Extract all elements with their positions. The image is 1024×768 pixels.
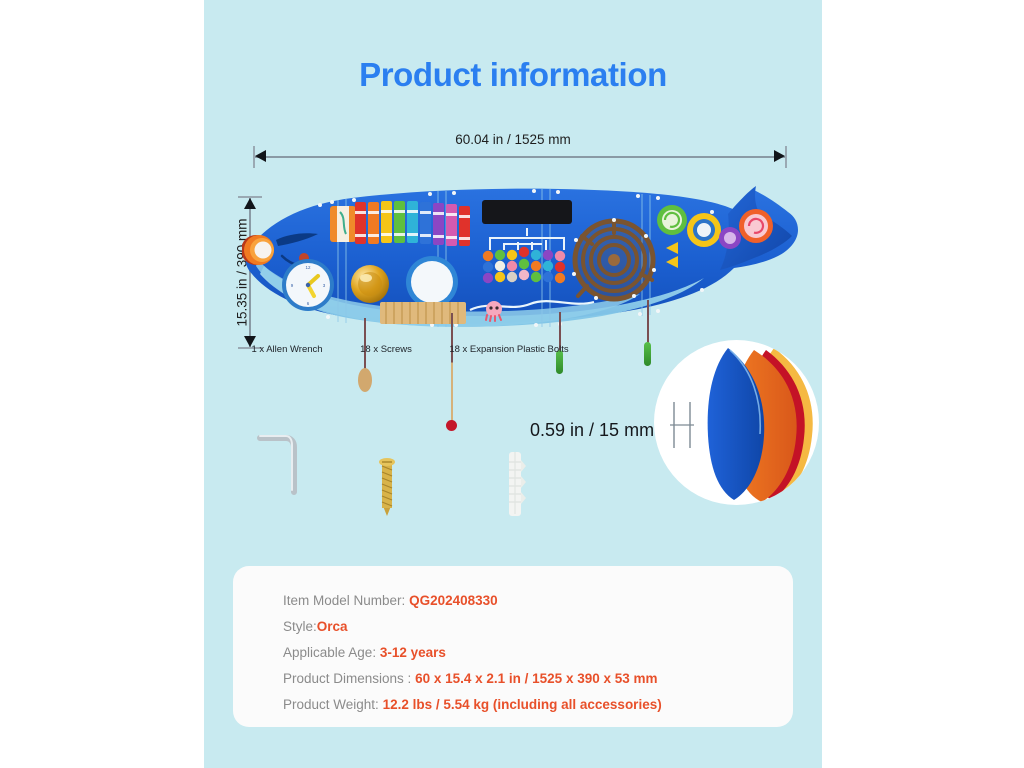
slider-block [330, 206, 356, 242]
gear-orange [739, 209, 773, 243]
brass-bell [351, 265, 389, 303]
spec-label-weight: Product Weight: [283, 697, 379, 712]
spec-value-weight: 12.2 lbs / 5.54 kg (including all access… [383, 697, 662, 712]
allen-wrench-icon [256, 432, 300, 496]
screw-icon [376, 450, 398, 522]
xylophone [354, 200, 472, 246]
nose-spinner [242, 235, 274, 265]
accessory-label-screws: 18 x Screws [360, 344, 412, 355]
spec-card: Item Model Number: QG202408330 Style:Orc… [233, 566, 793, 727]
whale-board-svg: 123 69 [242, 178, 802, 368]
spec-value-dimensions: 60 x 15.4 x 2.1 in / 1525 x 390 x 53 mm [415, 671, 657, 686]
spec-row-style: Style:Orca [283, 619, 348, 634]
spec-value-age: 3-12 years [380, 645, 446, 660]
chalkboard-panel [482, 200, 572, 224]
spec-row-model: Item Model Number: QG202408330 [283, 593, 498, 608]
gear-yellow [687, 213, 721, 247]
spec-label-style: Style: [283, 619, 317, 634]
page-title: Product information [204, 56, 822, 94]
spec-row-weight: Product Weight: 12.2 lbs / 5.54 kg (incl… [283, 697, 662, 712]
wood-mallet-icon [354, 366, 376, 396]
width-tick-right [785, 146, 787, 168]
arrow-right-icon [774, 150, 785, 162]
green-stick-string-2 [647, 300, 649, 346]
spec-row-age: Applicable Age: 3-12 years [283, 645, 446, 660]
spec-value-model: QG202408330 [409, 593, 498, 608]
wall-anchor-icon [502, 448, 528, 522]
accessory-label-expansion-bolts: 18 x Expansion Plastic Bolts [449, 344, 568, 355]
spec-label-model: Item Model Number: [283, 593, 405, 608]
accessory-label-allen-wrench: 1 x Allen Wrench [251, 344, 322, 355]
spec-label-dimensions: Product Dimensions : [283, 671, 411, 686]
width-dimension-label: 60.04 in / 1525 mm [204, 132, 822, 147]
product-information-page: Product information 60.04 in / 1525 mm 1… [0, 0, 1024, 768]
width-dimension-line [253, 156, 785, 158]
thickness-label: 0.59 in / 15 mm [530, 420, 654, 441]
spec-row-dimensions: Product Dimensions : 60 x 15.4 x 2.1 in … [283, 671, 658, 686]
ball-string [451, 313, 453, 423]
svg-text:12: 12 [305, 265, 311, 270]
wood-strip [380, 302, 466, 324]
thickness-gauge [670, 400, 700, 450]
arrow-left-icon [255, 150, 266, 162]
mirror-circle [406, 256, 458, 308]
gear-green [657, 205, 687, 235]
analog-clock: 123 69 [282, 259, 334, 311]
infographic-canvas: Product information 60.04 in / 1525 mm 1… [204, 0, 822, 768]
spec-value-style: Orca [317, 619, 348, 634]
spec-label-age: Applicable Age: [283, 645, 376, 660]
red-ball [446, 420, 457, 431]
gear-purple [719, 227, 741, 249]
green-stick-2 [644, 342, 651, 366]
product-illustration: 123 69 [242, 178, 802, 368]
